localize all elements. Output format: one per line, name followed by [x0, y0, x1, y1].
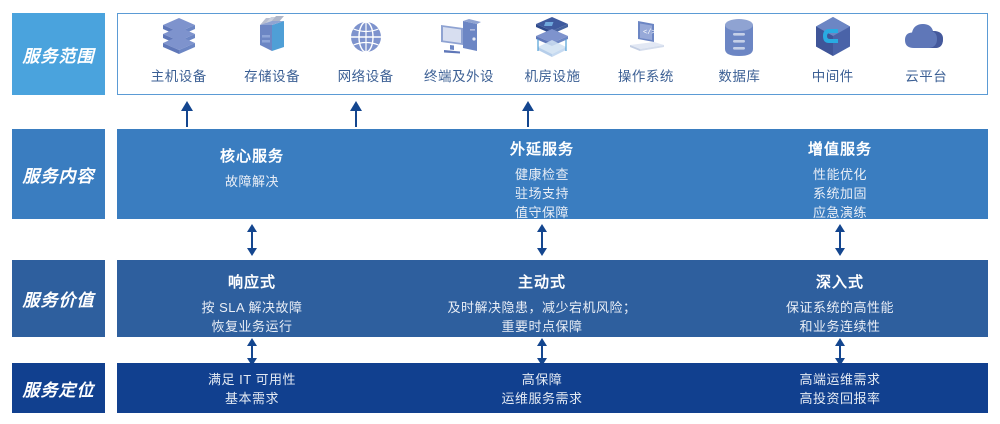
scope-item-middleware[interactable]: 中间件 — [786, 14, 879, 85]
column-line: 高保障 — [501, 370, 582, 389]
column-title: 核心服务 — [220, 145, 284, 166]
scope-item-database[interactable]: 数据库 — [693, 14, 786, 85]
svg-text:</>: </> — [643, 29, 656, 37]
column-title: 增值服务 — [808, 138, 872, 159]
row-label-position: 服务定位 — [12, 363, 105, 413]
scope-caption: 云平台 — [905, 65, 947, 85]
column-line: 满足 IT 可用性 — [208, 370, 296, 389]
column-line: 高投资回报率 — [799, 389, 880, 408]
content-column-extended[interactable]: 外延服务 健康检查 驻场支持 值守保障 — [510, 138, 574, 222]
value-column-proactive[interactable]: 主动式 及时解决隐患，减少宕机风险； 重要时点保障 — [447, 271, 636, 336]
row-label-value: 服务价值 — [12, 260, 105, 337]
row-label-content: 服务内容 — [12, 129, 105, 219]
column-line: 保证系统的高性能 — [786, 298, 894, 317]
scope-item-cloud[interactable]: 云平台 — [880, 14, 973, 85]
connector-scope-to-content-2 — [349, 101, 363, 132]
panel-content: 核心服务 故障解决 外延服务 健康检查 驻场支持 值守保障 增值服务 性能优化 … — [117, 129, 988, 219]
row-label-scope: 服务范围 — [12, 13, 105, 95]
scope-caption: 中间件 — [812, 65, 854, 85]
column-title: 主动式 — [447, 271, 636, 292]
scope-caption: 终端及外设 — [424, 65, 494, 85]
scope-caption: 数据库 — [718, 65, 760, 85]
panel-position: 满足 IT 可用性 基本需求 高保障 运维服务需求 高端运维需求 高投资回报率 — [117, 363, 988, 413]
content-column-core[interactable]: 核心服务 故障解决 — [220, 145, 284, 191]
column-line: 健康检查 — [510, 165, 574, 184]
scope-caption: 主机设备 — [151, 65, 207, 85]
connector-content-to-value-2 — [535, 224, 549, 261]
globe-network-icon — [346, 14, 386, 60]
column-line: 故障解决 — [220, 172, 284, 191]
column-line: 值守保障 — [510, 203, 574, 222]
column-line: 恢复业务运行 — [201, 317, 302, 336]
service-system-diagram: 服务范围 — [0, 0, 1000, 424]
value-column-reactive[interactable]: 响应式 按 SLA 解决故障 恢复业务运行 — [201, 271, 302, 336]
database-cylinder-icon — [720, 14, 758, 60]
connector-scope-to-content-3 — [521, 101, 535, 132]
connector-content-to-value-3 — [833, 224, 847, 261]
column-line: 性能优化 — [808, 165, 872, 184]
laptop-code-icon: </> — [624, 14, 668, 60]
column-title: 深入式 — [786, 271, 894, 292]
column-line: 重要时点保障 — [447, 317, 636, 336]
row-label-value-text: 服务价值 — [23, 286, 95, 311]
scope-caption: 存储设备 — [244, 65, 300, 85]
column-line: 应急演练 — [808, 203, 872, 222]
scope-item-facility[interactable]: 机房设施 — [506, 14, 599, 85]
column-line: 基本需求 — [208, 389, 296, 408]
data-center-rack-icon — [530, 14, 574, 60]
panel-value: 响应式 按 SLA 解决故障 恢复业务运行 主动式 及时解决隐患，减少宕机风险；… — [117, 260, 988, 337]
column-title: 响应式 — [201, 271, 302, 292]
position-column-highassurance[interactable]: 高保障 运维服务需求 — [501, 370, 582, 408]
column-line: 高端运维需求 — [799, 370, 880, 389]
row-label-position-text: 服务定位 — [23, 376, 95, 401]
column-title: 外延服务 — [510, 138, 574, 159]
position-column-premium[interactable]: 高端运维需求 高投资回报率 — [799, 370, 880, 408]
scope-item-terminal[interactable]: 终端及外设 — [412, 14, 505, 85]
desktop-terminal-icon — [437, 14, 481, 60]
value-column-indepth[interactable]: 深入式 保证系统的高性能 和业务连续性 — [786, 271, 894, 336]
column-line: 及时解决隐患，减少宕机风险； — [447, 298, 636, 317]
scope-caption: 操作系统 — [618, 65, 674, 85]
storage-array-icon — [252, 14, 292, 60]
column-line: 系统加固 — [808, 184, 872, 203]
cloud-icon — [903, 14, 949, 60]
scope-item-network[interactable]: 网络设备 — [319, 14, 412, 85]
server-stack-icon — [159, 14, 199, 60]
column-line: 驻场支持 — [510, 184, 574, 203]
scope-item-host[interactable]: 主机设备 — [132, 14, 225, 85]
position-column-basic[interactable]: 满足 IT 可用性 基本需求 — [208, 370, 296, 408]
scope-caption: 机房设施 — [524, 65, 580, 85]
scope-caption: 网络设备 — [338, 65, 394, 85]
column-line: 运维服务需求 — [501, 389, 582, 408]
row-label-content-text: 服务内容 — [23, 162, 95, 187]
content-column-valueadd[interactable]: 增值服务 性能优化 系统加固 应急演练 — [808, 138, 872, 222]
panel-scope: 主机设备 — [117, 13, 988, 95]
column-line: 和业务连续性 — [786, 317, 894, 336]
row-label-scope-text: 服务范围 — [23, 42, 95, 67]
column-line: 按 SLA 解决故障 — [201, 298, 302, 317]
scope-item-grid: 主机设备 — [118, 14, 987, 94]
scope-item-storage[interactable]: 存储设备 — [225, 14, 318, 85]
scope-item-os[interactable]: </> 操作系统 — [599, 14, 692, 85]
connector-content-to-value-1 — [245, 224, 259, 261]
cube-middleware-icon — [812, 14, 854, 60]
connector-scope-to-content-1 — [180, 101, 194, 132]
